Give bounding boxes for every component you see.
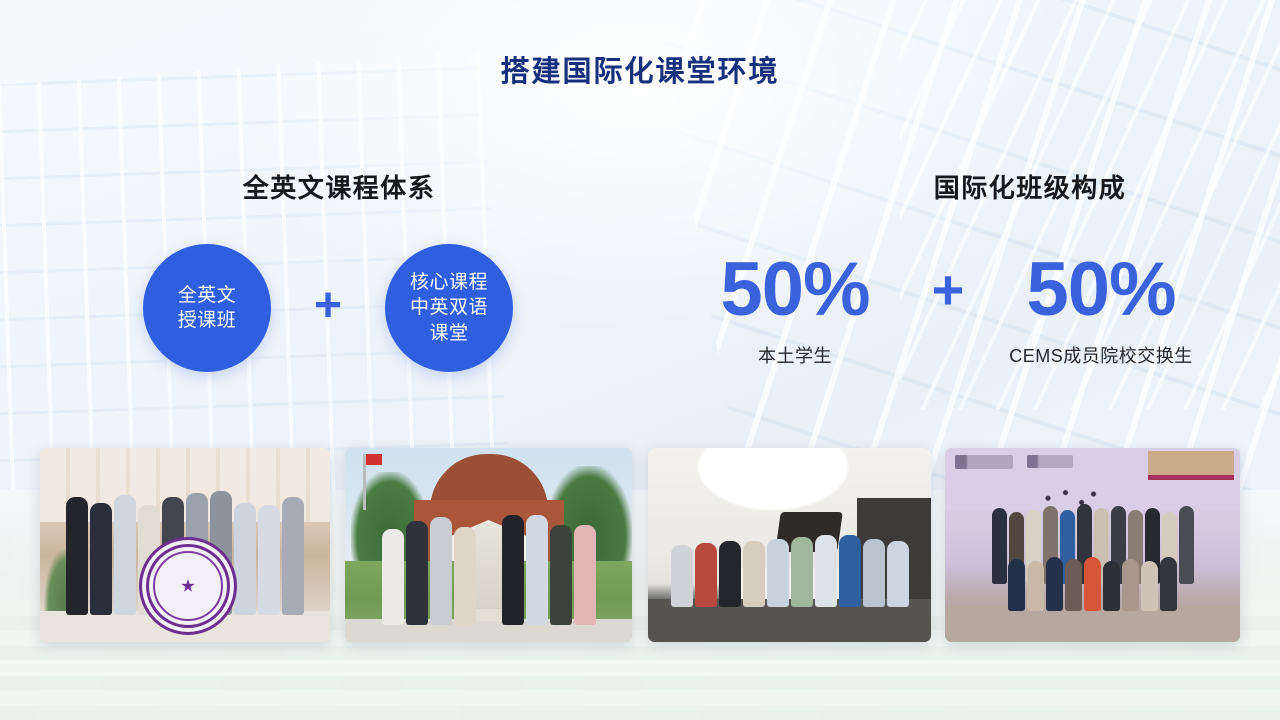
- circle2-line1: 核心课程: [410, 270, 488, 295]
- circle2-line2: 中英双语: [410, 295, 488, 320]
- slide-title: 搭建国际化课堂环境: [0, 48, 1280, 90]
- photo4-floor: [945, 607, 1240, 642]
- class-composition-stats: 50% 本土学生 + 50% CEMS成员院校交换生: [648, 252, 1248, 392]
- stat-exchange-label: CEMS成员院校交换生: [986, 342, 1216, 368]
- circle1-line1: 全英文: [178, 283, 237, 308]
- photo4-event-title-block: [1148, 451, 1234, 475]
- circle2-line3: 课堂: [429, 321, 468, 346]
- photo4-cems-logo-icon: [1027, 455, 1073, 468]
- stat-exchange-students: 50% CEMS成员院校交换生: [986, 252, 1216, 368]
- plus-icon-stats: +: [910, 252, 986, 328]
- photo-students-with-university-seal: [40, 448, 330, 642]
- photo2-people: [345, 515, 632, 625]
- stat-exchange-value: 50%: [986, 252, 1216, 328]
- stat-local-students: 50% 本土学生: [680, 252, 910, 368]
- photo4-auc-logo-icon: [955, 455, 1013, 469]
- section-heading-class-composition: 国际化班级构成: [640, 168, 1280, 205]
- stat-local-value: 50%: [680, 252, 910, 328]
- photo-cems-annual-event-group: [945, 448, 1240, 642]
- photo-international-students-atrium: [648, 448, 931, 642]
- photo4-people-front-row: [945, 557, 1240, 611]
- circle-all-english-class: 全英文 授课班: [143, 244, 271, 372]
- stat-local-label: 本土学生: [680, 342, 910, 368]
- photo2-flagpole: [363, 454, 366, 510]
- photo-students-campus-auditorium: [345, 448, 632, 642]
- photo-strip: [0, 448, 1280, 644]
- plus-icon-courses: +: [271, 282, 385, 330]
- photo3-people: [648, 535, 931, 607]
- course-system-diagram: 全英文 授课班 + 核心课程 中英双语 课堂: [143, 243, 523, 373]
- photo4-event-accent-bar: [1148, 475, 1234, 480]
- circle-bilingual-core-courses: 核心课程 中英双语 课堂: [385, 244, 513, 372]
- slide-root: 搭建国际化课堂环境 全英文课程体系 国际化班级构成 全英文 授课班 + 核心课程…: [0, 0, 1280, 720]
- section-heading-courses: 全英文课程体系: [0, 168, 678, 205]
- photo1-university-seal-icon: [139, 537, 237, 635]
- circle1-line2: 授课班: [178, 308, 237, 333]
